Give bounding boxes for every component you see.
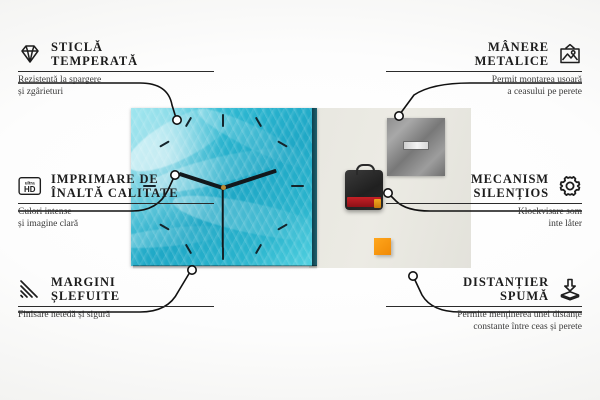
feature-subtitle-line1: Finisare netedă și sigură (18, 310, 214, 322)
feature-header: MECANISM SILENȚIOS (386, 172, 582, 200)
feature-subtitle-line2: a ceasului pe perete (386, 87, 582, 99)
diamond-icon (18, 42, 42, 66)
divider (18, 71, 214, 72)
metal-hanger-plate (387, 118, 445, 176)
feature-subtitle-line1: Permit montarea ușoară (386, 75, 582, 87)
divider (386, 306, 582, 307)
foam-spacer-icon (558, 277, 582, 301)
mechanism-hook (356, 164, 375, 175)
clock-mechanism (345, 170, 383, 210)
feature-subtitle-line2: inte låter (386, 219, 582, 231)
infographic-canvas: STICLĂ TEMPERATĂ Rezistentă la spargere … (0, 0, 600, 400)
clock-side-edge (312, 108, 317, 266)
feature-header: ultra HD IMPRIMARE DE ÎNALTĂ CALITATE (18, 172, 214, 200)
divider (386, 203, 582, 204)
feature-subtitle-line1: Culori intense (18, 207, 214, 219)
feature-title: DISTANȚIER SPUMĂ (463, 275, 549, 303)
feature-distantier-spuma[interactable]: DISTANȚIER SPUMĂ Permite menținerea unei… (386, 275, 582, 333)
svg-text:HD: HD (24, 185, 36, 194)
feature-header: MARGINI ȘLEFUITE (18, 275, 214, 303)
feature-manere-metalice[interactable]: MÂNERE METALICE Permit montarea ușoară a… (386, 40, 582, 98)
picture-hanger-icon (558, 42, 582, 66)
feature-header: MÂNERE METALICE (386, 40, 582, 68)
beveled-edge-icon (18, 277, 42, 301)
divider (18, 203, 214, 204)
feature-title: MARGINI ȘLEFUITE (51, 275, 120, 303)
foam-spacer-part (374, 238, 391, 255)
feature-subtitle-line1: Klockvisare som (386, 207, 582, 219)
hanger-slot (403, 141, 429, 150)
feature-title: STICLĂ TEMPERATĂ (51, 40, 138, 68)
gear-icon (558, 174, 582, 198)
second-hand (222, 188, 224, 248)
feature-header: DISTANȚIER SPUMĂ (386, 275, 582, 303)
ultra-hd-icon: ultra HD (18, 174, 42, 198)
mechanism-battery-slot (374, 199, 381, 208)
feature-margini-slefuite[interactable]: MARGINI ȘLEFUITE Finisare netedă și sigu… (18, 275, 214, 322)
feature-subtitle-line2: și zgârieturi (18, 87, 214, 99)
feature-subtitle-line1: Permite menținerea unei distanțe (386, 310, 582, 322)
feature-imprimare-inalta-calitate[interactable]: ultra HD IMPRIMARE DE ÎNALTĂ CALITATE Cu… (18, 172, 214, 230)
feature-subtitle-line1: Rezistentă la spargere (18, 75, 214, 87)
feature-title: MECANISM SILENȚIOS (471, 172, 549, 200)
divider (18, 306, 214, 307)
feature-title: IMPRIMARE DE ÎNALTĂ CALITATE (51, 172, 179, 200)
hands-center-cap (221, 185, 226, 190)
feature-header: STICLĂ TEMPERATĂ (18, 40, 214, 68)
feature-title: MÂNERE METALICE (475, 40, 549, 68)
clock-drop-shadow (133, 265, 317, 269)
feature-subtitle-line2: și imagine clară (18, 219, 214, 231)
feature-subtitle-line2: constante între ceas și perete (386, 322, 582, 334)
divider (386, 71, 582, 72)
feature-mecanism-silentios[interactable]: MECANISM SILENȚIOS Klockvisare som inte … (386, 172, 582, 230)
feature-sticla-temperata[interactable]: STICLĂ TEMPERATĂ Rezistentă la spargere … (18, 40, 214, 98)
